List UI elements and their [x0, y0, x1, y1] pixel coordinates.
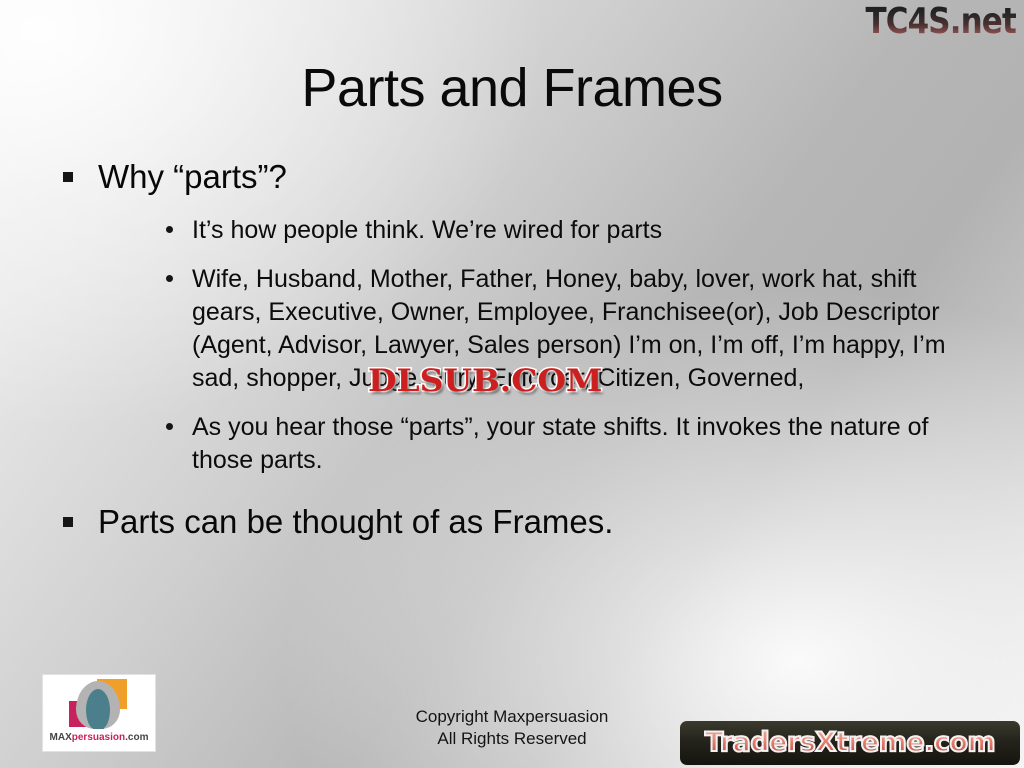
square-bullet-icon — [63, 172, 73, 182]
slide-title: Parts and Frames — [0, 57, 1024, 119]
bullet-level1-parts-as-frames: Parts can be thought of as Frames. — [48, 501, 988, 543]
keyhole-head-icon — [69, 679, 127, 729]
tradersxtreme-wordmark: TradersXtreme.com — [680, 724, 1020, 762]
dlsub-watermark: DLSUB.COM — [368, 362, 602, 400]
bullet-level2-state-shifts: As you hear those “parts”, your state sh… — [48, 411, 988, 477]
bullet-text: It’s how people think. We’re wired for p… — [192, 214, 988, 247]
slide-body: Why “parts”? It’s how people think. We’r… — [48, 156, 988, 549]
wordmark-persuasion: persuasion — [72, 732, 125, 743]
bullet-text: Why “parts”? — [98, 158, 287, 195]
round-bullet-icon — [166, 423, 173, 430]
round-bullet-icon — [166, 275, 173, 282]
copyright-line-1: Copyright Maxpersuasion — [312, 706, 712, 728]
presentation-slide: TC4S.net Parts and Frames Why “parts”? I… — [0, 0, 1024, 768]
copyright-line-2: All Rights Reserved — [312, 728, 712, 750]
tc4s-brand-logo: TC4S.net — [866, 2, 1016, 42]
round-bullet-icon — [166, 226, 173, 233]
bullet-level2-how-people-think: It’s how people think. We’re wired for p… — [48, 214, 988, 247]
copyright-notice: Copyright Maxpersuasion All Rights Reser… — [312, 706, 712, 750]
bullet-text: Parts can be thought of as Frames. — [98, 503, 613, 540]
bullet-text: As you hear those “parts”, your state sh… — [192, 411, 988, 477]
maxpersuasion-logo: MAXpersuasion.com — [42, 674, 156, 752]
bullet-level1-why-parts: Why “parts”? — [48, 156, 988, 198]
maxpersuasion-wordmark: MAXpersuasion.com — [43, 732, 155, 744]
square-bullet-icon — [63, 517, 73, 527]
tradersxtreme-banner: TradersXtreme.com — [680, 721, 1020, 765]
teal-neck-shape — [93, 705, 104, 729]
wordmark-max: MAX — [50, 732, 72, 743]
wordmark-com: .com — [125, 732, 148, 743]
